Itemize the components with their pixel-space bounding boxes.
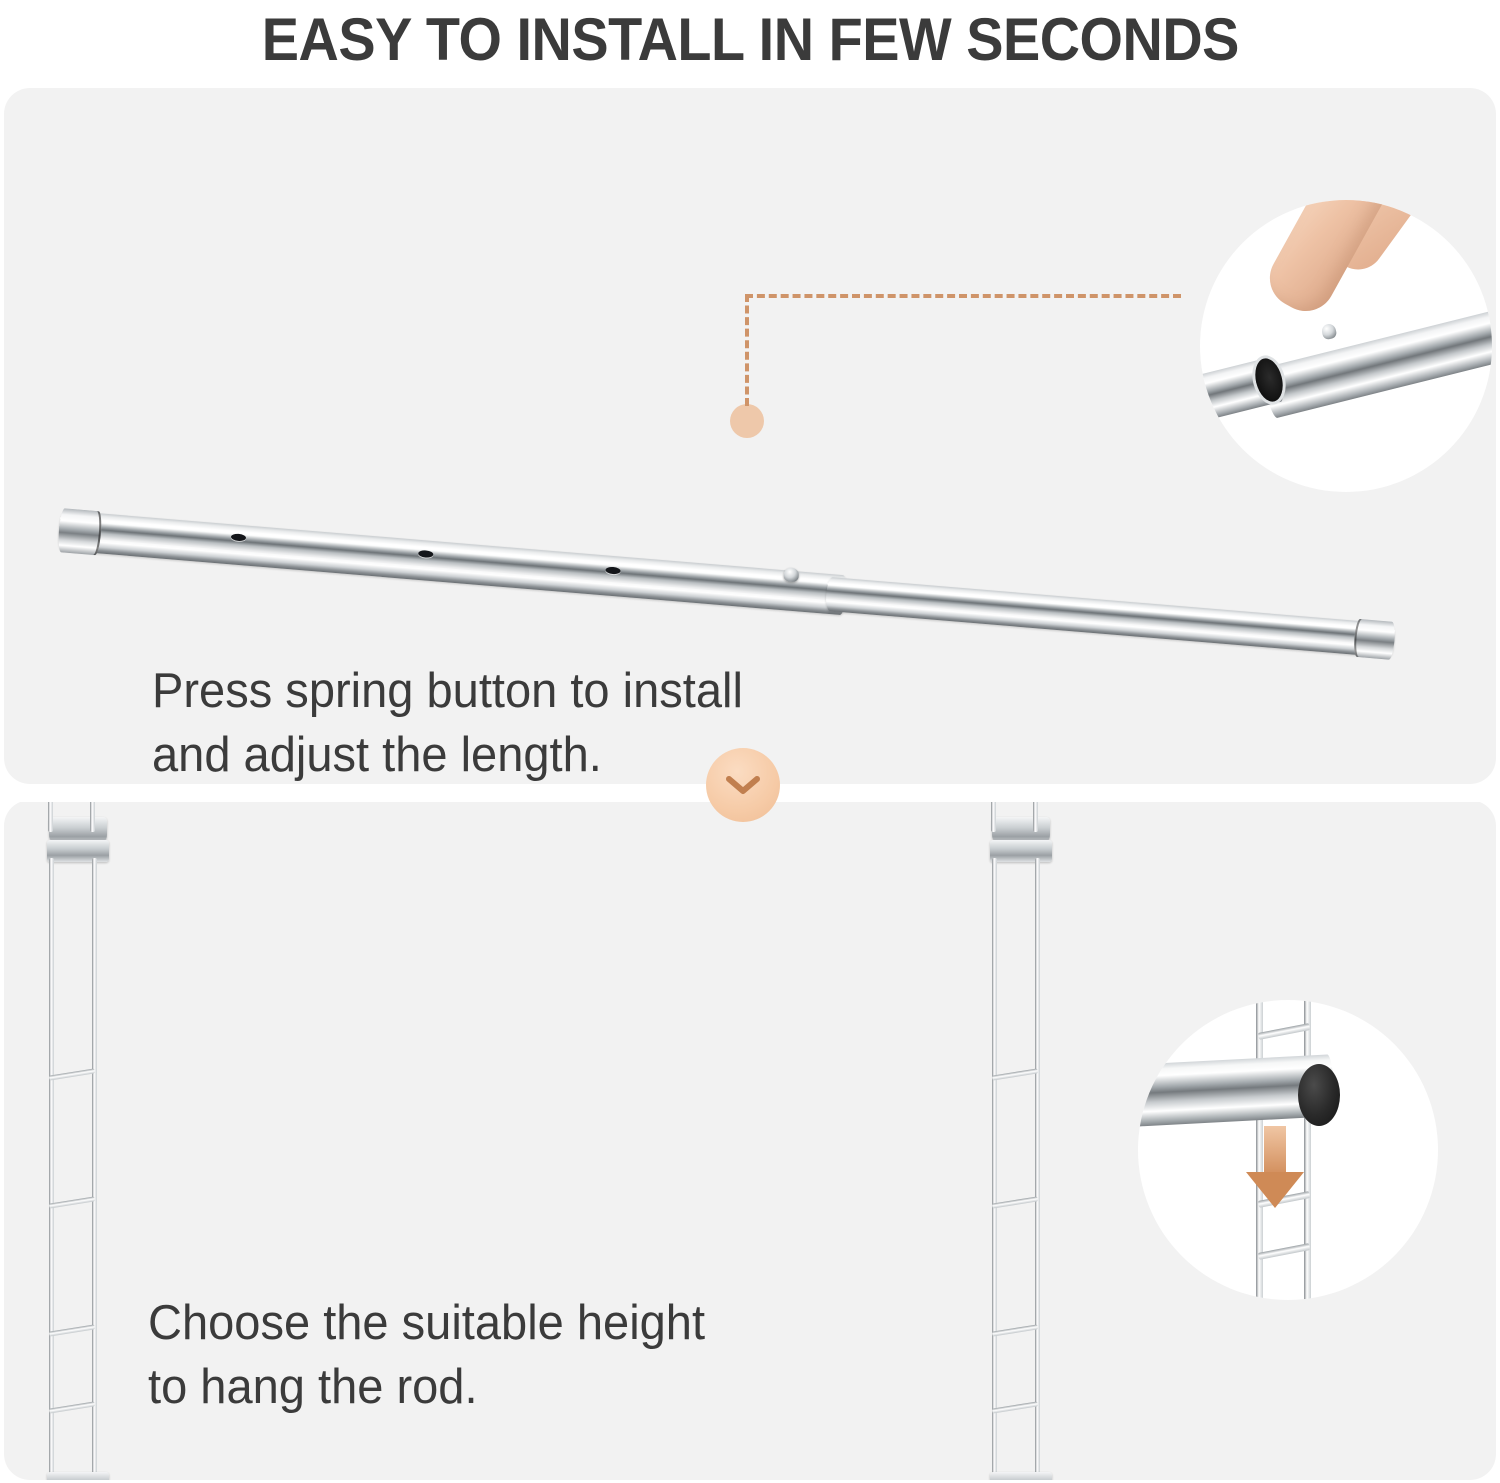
rod-inner-tube (825, 577, 1396, 658)
page-title: EASY TO INSTALL IN FEW SECONDS (261, 5, 1238, 74)
rod-right-end-cap (1353, 619, 1396, 660)
callout-rod-black-cap (1298, 1064, 1340, 1126)
rod-left-end-cap (57, 508, 102, 555)
callout-dash-horizontal-top (745, 294, 1181, 298)
rod-outer-tube (57, 510, 848, 615)
step-one-panel: Press spring button to install and adjus… (4, 88, 1496, 784)
step-two-caption: Choose the suitable height to hang the r… (148, 1292, 705, 1419)
callout-dash-vertical-top (745, 294, 749, 406)
callout-anchor-dot-top (730, 404, 764, 438)
down-arrow-head-icon (1246, 1172, 1304, 1208)
telescoping-rod-illustration (59, 460, 1399, 630)
step-one-caption: Press spring button to install and adjus… (152, 660, 743, 784)
spring-button (783, 567, 799, 582)
callout-spring-button (1320, 323, 1337, 341)
fingernail (1200, 200, 1242, 246)
spring-button-callout (1200, 200, 1492, 492)
down-arrow-icon (1264, 1126, 1286, 1178)
page-header: EASY TO INSTALL IN FEW SECONDS (0, 0, 1500, 78)
chevron-down-icon (706, 748, 780, 822)
height-adjust-callout (1138, 1000, 1438, 1300)
callout-tube-right (1260, 301, 1492, 419)
